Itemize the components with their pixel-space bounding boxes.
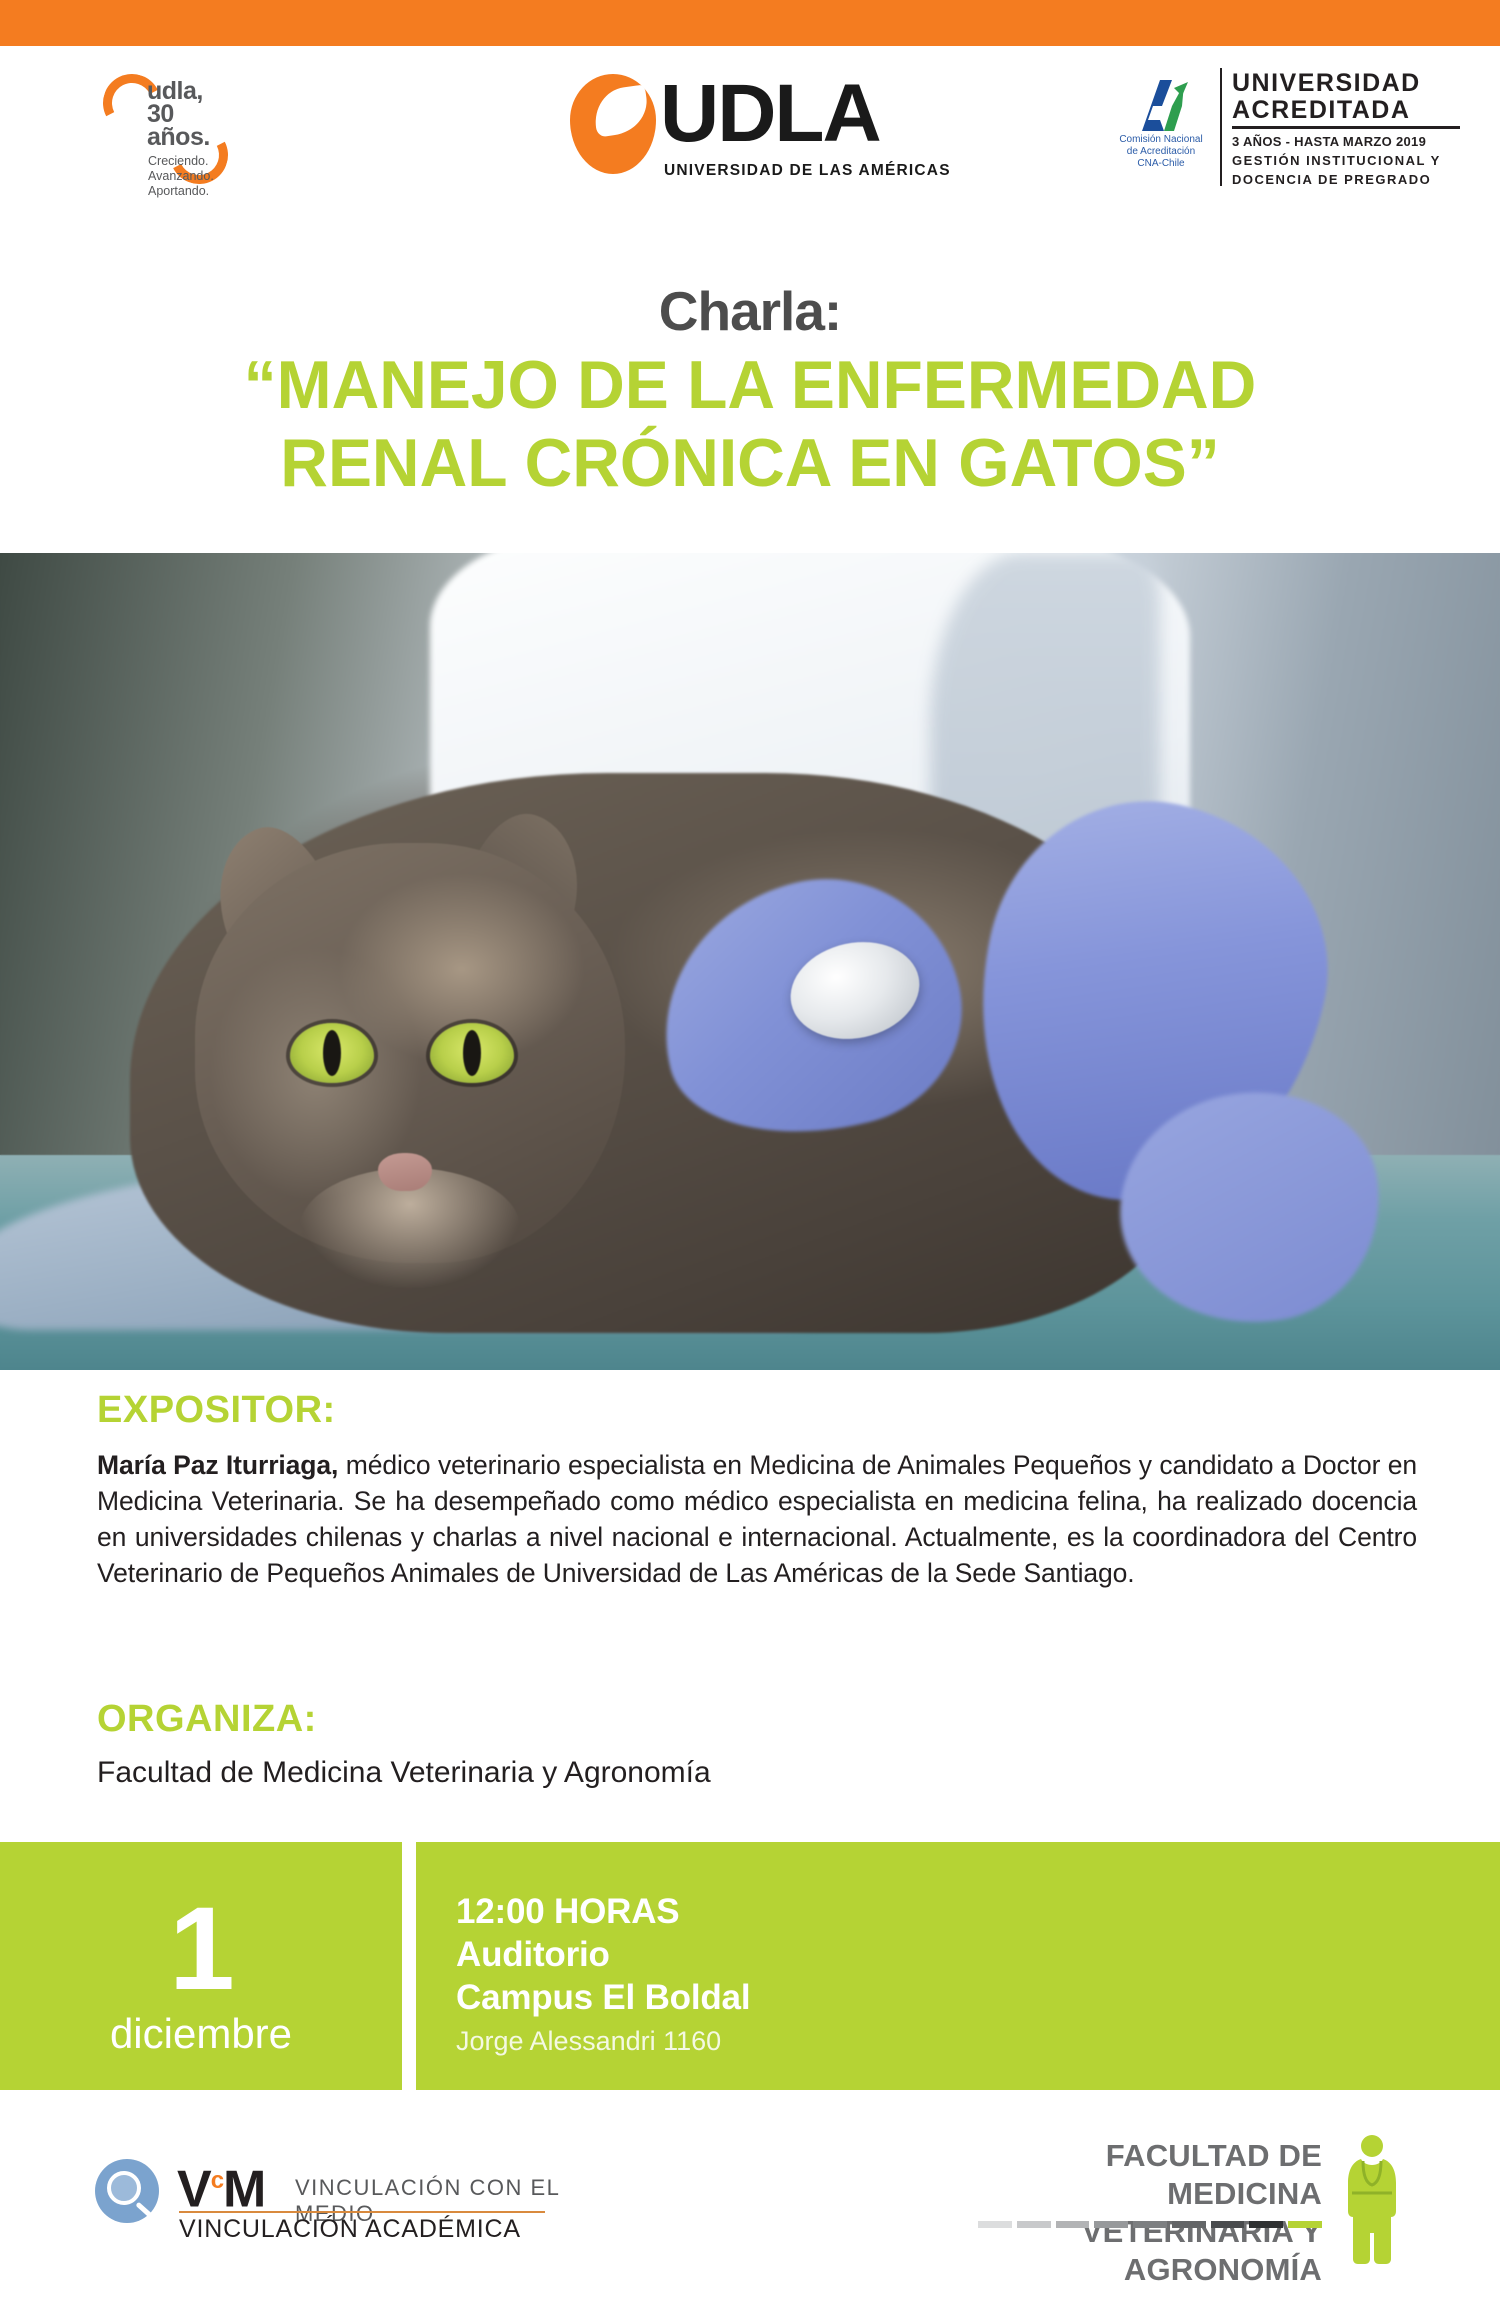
accreditation-title-line-1: UNIVERSIDAD: [1232, 70, 1421, 97]
vcm-letter-v: V: [177, 2160, 211, 2218]
event-place: Auditorio: [456, 1933, 750, 1976]
accreditation-title-line-2: ACREDITADA: [1232, 97, 1421, 124]
title-line-1: “MANEJO DE LA ENFERMEDAD: [23, 346, 1478, 424]
hero-photo: [0, 553, 1500, 1370]
event-time: 12:00 HORAS: [456, 1890, 750, 1933]
bar-8: [1249, 2221, 1283, 2228]
vcm-letter-m: M: [223, 2160, 265, 2218]
vcm-wordmark: VcM: [177, 2153, 265, 2217]
anniversary-sub-1: Creciendo.: [148, 154, 214, 169]
accreditation-details: 3 AÑOS - HASTA MARZO 2019 GESTIÓN INSTIT…: [1232, 132, 1441, 189]
bar-3: [1056, 2221, 1090, 2228]
anniversary-line-3: años.: [147, 126, 210, 149]
udla-wordmark: UDLA: [660, 70, 880, 158]
magnifier-lens-icon: [107, 2171, 141, 2205]
bar-2: [1017, 2221, 1051, 2228]
cna-line-3: CNA-Chile: [1112, 158, 1210, 170]
anniversary-sub-2: Avanzando.: [148, 169, 214, 184]
cna-agency-label: Comisión Nacional de Acreditación CNA-Ch…: [1112, 134, 1210, 170]
top-accent-bar: [0, 0, 1500, 46]
udla-30-anniversary-logo: udla, 30 años. Creciendo. Avanzando. Apo…: [90, 64, 300, 194]
magnifier-handle-icon: [135, 2202, 152, 2218]
accreditation-detail-2: GESTIÓN INSTITUCIONAL Y: [1232, 151, 1441, 170]
faculty-logo: FACULTAD DE MEDICINA VETERINARIA Y AGRON…: [960, 2133, 1430, 2283]
anniversary-sub-3: Aportando.: [148, 184, 214, 199]
footer: VcM VINCULACIÓN CON EL MEDIO VINCULACIÓN…: [0, 2105, 1500, 2319]
bar-5: [1133, 2221, 1167, 2228]
event-campus: Campus El Boldal: [456, 1976, 750, 2019]
accreditation-seal: Comisión Nacional de Acreditación CNA-Ch…: [1112, 68, 1472, 188]
cna-chile-icon: Comisión Nacional de Acreditación CNA-Ch…: [1112, 76, 1210, 182]
magnifier-circle-icon: [95, 2159, 159, 2223]
accreditation-title: UNIVERSIDAD ACREDITADA: [1232, 70, 1421, 124]
accreditation-divider: [1220, 68, 1222, 186]
event-venue-block: 12:00 HORAS Auditorio Campus El Boldal J…: [416, 1842, 1500, 2090]
expositor-heading: EXPOSITOR:: [97, 1388, 1417, 1432]
accreditation-rule: [1232, 126, 1460, 129]
udla-brand-logo: UDLA UNIVERSIDAD DE LAS AMÉRICAS: [560, 64, 960, 189]
photo-cat-eye-left: [290, 1023, 374, 1083]
bar-4: [1094, 2221, 1128, 2228]
anniversary-subtext: Creciendo. Avanzando. Aportando.: [148, 154, 214, 199]
anniversary-text: udla, 30 años.: [147, 80, 210, 149]
faculty-line-1: FACULTAD DE MEDICINA: [960, 2137, 1322, 2213]
photo-cat-pupil-left: [323, 1030, 341, 1076]
event-details-band: 1 diciembre 12:00 HORAS Auditorio Campus…: [0, 1842, 1500, 2090]
cna-line-1: Comisión Nacional: [1112, 134, 1210, 146]
poster-title-block: Charla: “MANEJO DE LA ENFERMEDAD RENAL C…: [0, 280, 1500, 502]
event-address: Jorge Alessandri 1160: [456, 2025, 750, 2057]
vcm-logo: VcM VINCULACIÓN CON EL MEDIO VINCULACIÓN…: [95, 2153, 615, 2263]
expositor-name: María Paz Iturriaga,: [97, 1450, 338, 1480]
poster-root: udla, 30 años. Creciendo. Avanzando. Apo…: [0, 0, 1500, 2319]
event-day: 1: [0, 1894, 402, 2004]
accreditation-detail-1: 3 AÑOS - HASTA MARZO 2019: [1232, 132, 1441, 151]
organiza-section: ORGANIZA: Facultad de Medicina Veterinar…: [97, 1697, 1417, 1792]
organiza-heading: ORGANIZA:: [97, 1697, 1417, 1741]
title-line-2: RENAL CRÓNICA EN GATOS”: [23, 424, 1478, 502]
udla-drop-icon: [570, 74, 656, 174]
event-venue-inner: 12:00 HORAS Auditorio Campus El Boldal J…: [456, 1890, 750, 2057]
cna-line-2: de Acreditación: [1112, 146, 1210, 158]
expositor-bio: María Paz Iturriaga, médico veterinario …: [97, 1447, 1417, 1591]
udla-tagline: UNIVERSIDAD DE LAS AMÉRICAS: [664, 162, 951, 180]
organiza-value: Facultad de Medicina Veterinaria y Agron…: [97, 1754, 1417, 1792]
bar-1: [978, 2221, 1012, 2228]
header-logo-row: udla, 30 años. Creciendo. Avanzando. Apo…: [0, 46, 1500, 198]
bar-7: [1211, 2221, 1245, 2228]
faculty-text: FACULTAD DE MEDICINA VETERINARIA Y AGRON…: [960, 2137, 1322, 2289]
faculty-gradient-bars: [978, 2221, 1322, 2228]
vcm-rule: [179, 2211, 545, 2213]
bar-9: [1288, 2221, 1322, 2228]
bar-6: [1172, 2221, 1206, 2228]
photo-cat-pupil-right: [463, 1030, 481, 1076]
vcm-letter-c: c: [211, 2167, 223, 2194]
event-month: diciembre: [0, 2010, 402, 2058]
accreditation-detail-3: DOCENCIA DE PREGRADO: [1232, 170, 1441, 189]
photo-cat-eye-right: [430, 1023, 514, 1083]
title-main: “MANEJO DE LA ENFERMEDAD RENAL CRÓNICA E…: [23, 346, 1478, 502]
expositor-section: EXPOSITOR: María Paz Iturriaga, médico v…: [97, 1388, 1417, 1591]
veterinarian-silhouette-icon: [1332, 2133, 1410, 2265]
title-kicker: Charla:: [0, 280, 1500, 342]
photo-cat-nose: [378, 1153, 432, 1191]
vcm-subtitle: VINCULACIÓN ACADÉMICA: [179, 2215, 521, 2244]
